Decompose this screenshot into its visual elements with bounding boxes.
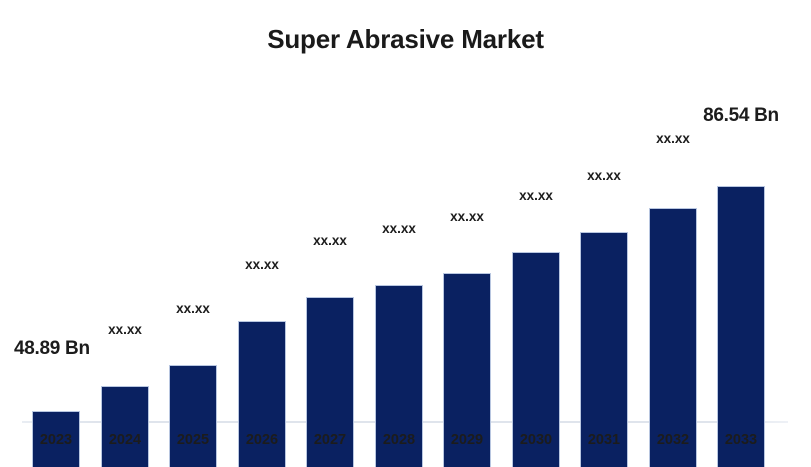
value-label-2026: xx.xx: [207, 257, 317, 272]
bar-2032[interactable]: [649, 208, 697, 467]
value-label-2030: xx.xx: [481, 188, 591, 203]
plot-area: 48.89 Bn 2023 xx.xx 2024 xx.xx 2025 xx.x…: [0, 0, 811, 467]
category-label-2033: 2033: [706, 432, 776, 448]
bar-group: [443, 46, 493, 467]
category-label-2031: 2031: [569, 432, 639, 448]
chart-page: Super Abrasive Market 48.89 Bn 2023 xx.x…: [0, 0, 811, 467]
bar-group: [375, 46, 425, 467]
bar-group: [306, 46, 356, 467]
category-label-2032: 2032: [638, 432, 708, 448]
category-label-2023: 2023: [21, 432, 91, 448]
value-label-2025: xx.xx: [138, 301, 248, 316]
category-label-2026: 2026: [227, 432, 297, 448]
value-label-2033: 86.54 Bn: [686, 105, 796, 127]
bar-group: [32, 46, 82, 467]
bar-2033[interactable]: [717, 186, 765, 467]
category-label-2024: 2024: [90, 432, 160, 448]
value-label-2031: xx.xx: [549, 168, 659, 183]
bar-group: [101, 46, 151, 467]
value-label-2032: xx.xx: [618, 131, 728, 146]
value-label-2024: xx.xx: [70, 322, 180, 337]
bar-group: [512, 46, 562, 467]
category-label-2028: 2028: [364, 432, 434, 448]
category-label-2029: 2029: [432, 432, 502, 448]
category-label-2030: 2030: [501, 432, 571, 448]
bar-2025[interactable]: [169, 365, 217, 467]
bar-group: [580, 46, 630, 467]
bar-2024[interactable]: [101, 386, 149, 467]
category-label-2027: 2027: [295, 432, 365, 448]
category-label-2025: 2025: [158, 432, 228, 448]
value-label-2029: xx.xx: [412, 209, 522, 224]
